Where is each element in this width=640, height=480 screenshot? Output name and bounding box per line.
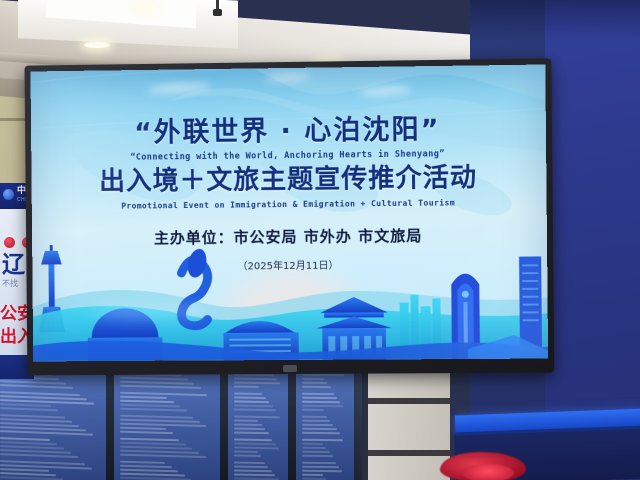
red-cloth-highlight bbox=[462, 464, 514, 480]
wall-shadow bbox=[470, 0, 640, 40]
slide-subhead: 出入境＋文旅主题宣传推介活动 bbox=[31, 160, 546, 199]
poster-subtext: 不找 bbox=[2, 279, 18, 288]
wall-display[interactable]: “外联世界 · 心泊沈阳” “Connecting with the World… bbox=[24, 62, 551, 374]
slide-headline: “外联世界 · 心泊沈阳” bbox=[31, 113, 546, 151]
grey-pillar bbox=[368, 372, 450, 480]
right-blue-wall-far bbox=[545, 0, 640, 480]
slide-subhead-english: Promotional Event on Immigration & Emigr… bbox=[32, 197, 547, 211]
poster-main-char: 辽 bbox=[2, 253, 26, 277]
info-board-group bbox=[0, 366, 362, 480]
screenshot-root: 中 CHINA 辽 不找 公安 出入 bbox=[0, 0, 640, 480]
display-brand-logo bbox=[283, 365, 297, 372]
display-screen[interactable]: “外联世界 · 心泊沈阳” “Connecting with the World… bbox=[30, 64, 548, 361]
city-skyline-illustration bbox=[32, 241, 548, 362]
presentation-slide: “外联世界 · 心泊沈阳” “Connecting with the World… bbox=[30, 64, 548, 361]
poster-emblem-icon bbox=[3, 189, 14, 200]
ceiling-hanger-box bbox=[213, 9, 222, 16]
ceiling-light-1 bbox=[84, 42, 110, 48]
poster-seal-icon bbox=[4, 237, 15, 248]
ceiling-light-4 bbox=[136, 5, 156, 10]
board-glow bbox=[0, 366, 362, 480]
